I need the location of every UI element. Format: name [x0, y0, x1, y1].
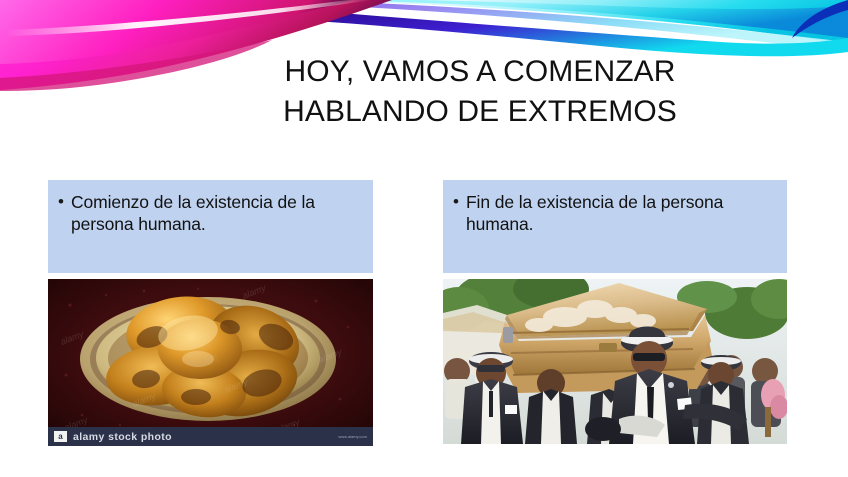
- bullet-text-left: Comienzo de la existencia de la persona …: [71, 191, 361, 235]
- bullet-dot-icon: •: [453, 191, 459, 212]
- text-panel-right: • Fin de la existencia de la persona hum…: [443, 180, 787, 273]
- funeral-procession-photo: [443, 279, 787, 444]
- bullet-text-right: Fin de la existencia de la persona human…: [466, 191, 775, 235]
- bullet-item-left: • Comienzo de la existencia de la person…: [58, 191, 361, 235]
- alamy-watermark-bar: a alamy stock photo www.alamy.com: [48, 427, 373, 446]
- bullet-dot-icon: •: [58, 191, 64, 212]
- swoosh-white-streak: [6, 0, 372, 36]
- foreground-shadow: [585, 417, 621, 441]
- swoosh-navy-accent-right: [792, 0, 848, 38]
- text-panel-left: • Comienzo de la existencia de la person…: [48, 180, 373, 273]
- alamy-watermark-url: www.alamy.com: [338, 434, 367, 439]
- funeral-photo-graphic: [443, 279, 787, 444]
- swoosh-cyan-mid: [330, 0, 848, 38]
- swoosh-violet: [0, 0, 848, 52]
- content-column-right: • Fin de la existencia de la persona hum…: [443, 180, 787, 444]
- alamy-logo-icon: a: [54, 431, 67, 442]
- embryo-sem-photo: alamy alamy alamy alamy alamy alamy alam…: [48, 279, 373, 446]
- content-column-left: • Comienzo de la existencia de la person…: [48, 180, 373, 446]
- embryo-photo-graphic: alamy alamy alamy alamy alamy alamy alam…: [48, 279, 373, 446]
- swoosh-cyan-far: [300, 0, 848, 44]
- page-title: HOY, VAMOS A COMENZAR HABLANDO DE EXTREM…: [160, 52, 800, 132]
- swoosh-navy: [0, 0, 848, 56]
- bullet-item-right: • Fin de la existencia de la persona hum…: [453, 191, 775, 235]
- alamy-watermark-text: alamy stock photo: [73, 431, 172, 443]
